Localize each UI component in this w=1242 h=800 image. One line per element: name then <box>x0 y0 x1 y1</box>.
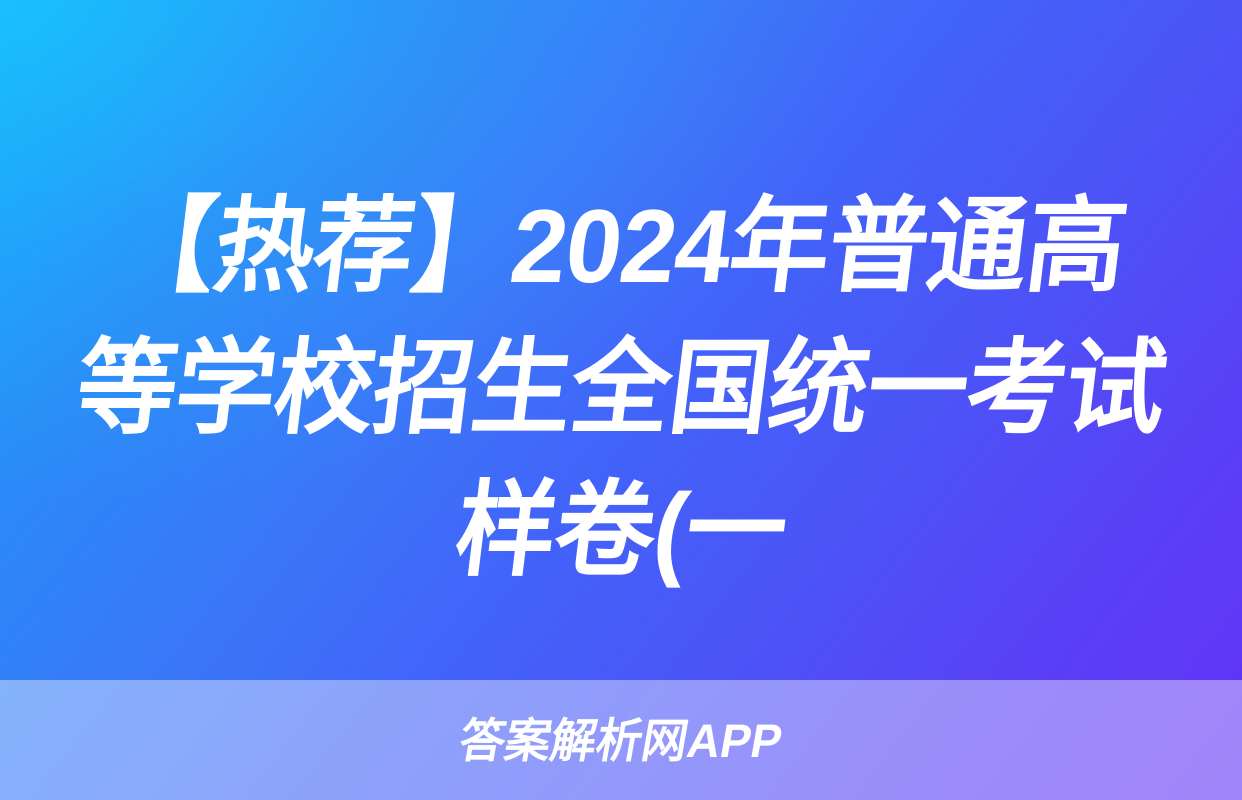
promo-card: 【热荐】2024年普通高 等学校招生全国统一考试 样卷(一 答案解析网APP <box>0 0 1242 800</box>
page-title: 【热荐】2024年普通高 等学校招生全国统一考试 样卷(一 <box>0 176 1242 602</box>
title-line-2: 等学校招生全国统一考试 <box>41 318 1201 460</box>
brand-label: 答案解析网APP <box>456 717 786 764</box>
title-line-3: 样卷(一 <box>41 460 1201 602</box>
title-line-1: 【热荐】2024年普通高 <box>41 176 1201 318</box>
brand-banner: 答案解析网APP <box>0 680 1242 800</box>
